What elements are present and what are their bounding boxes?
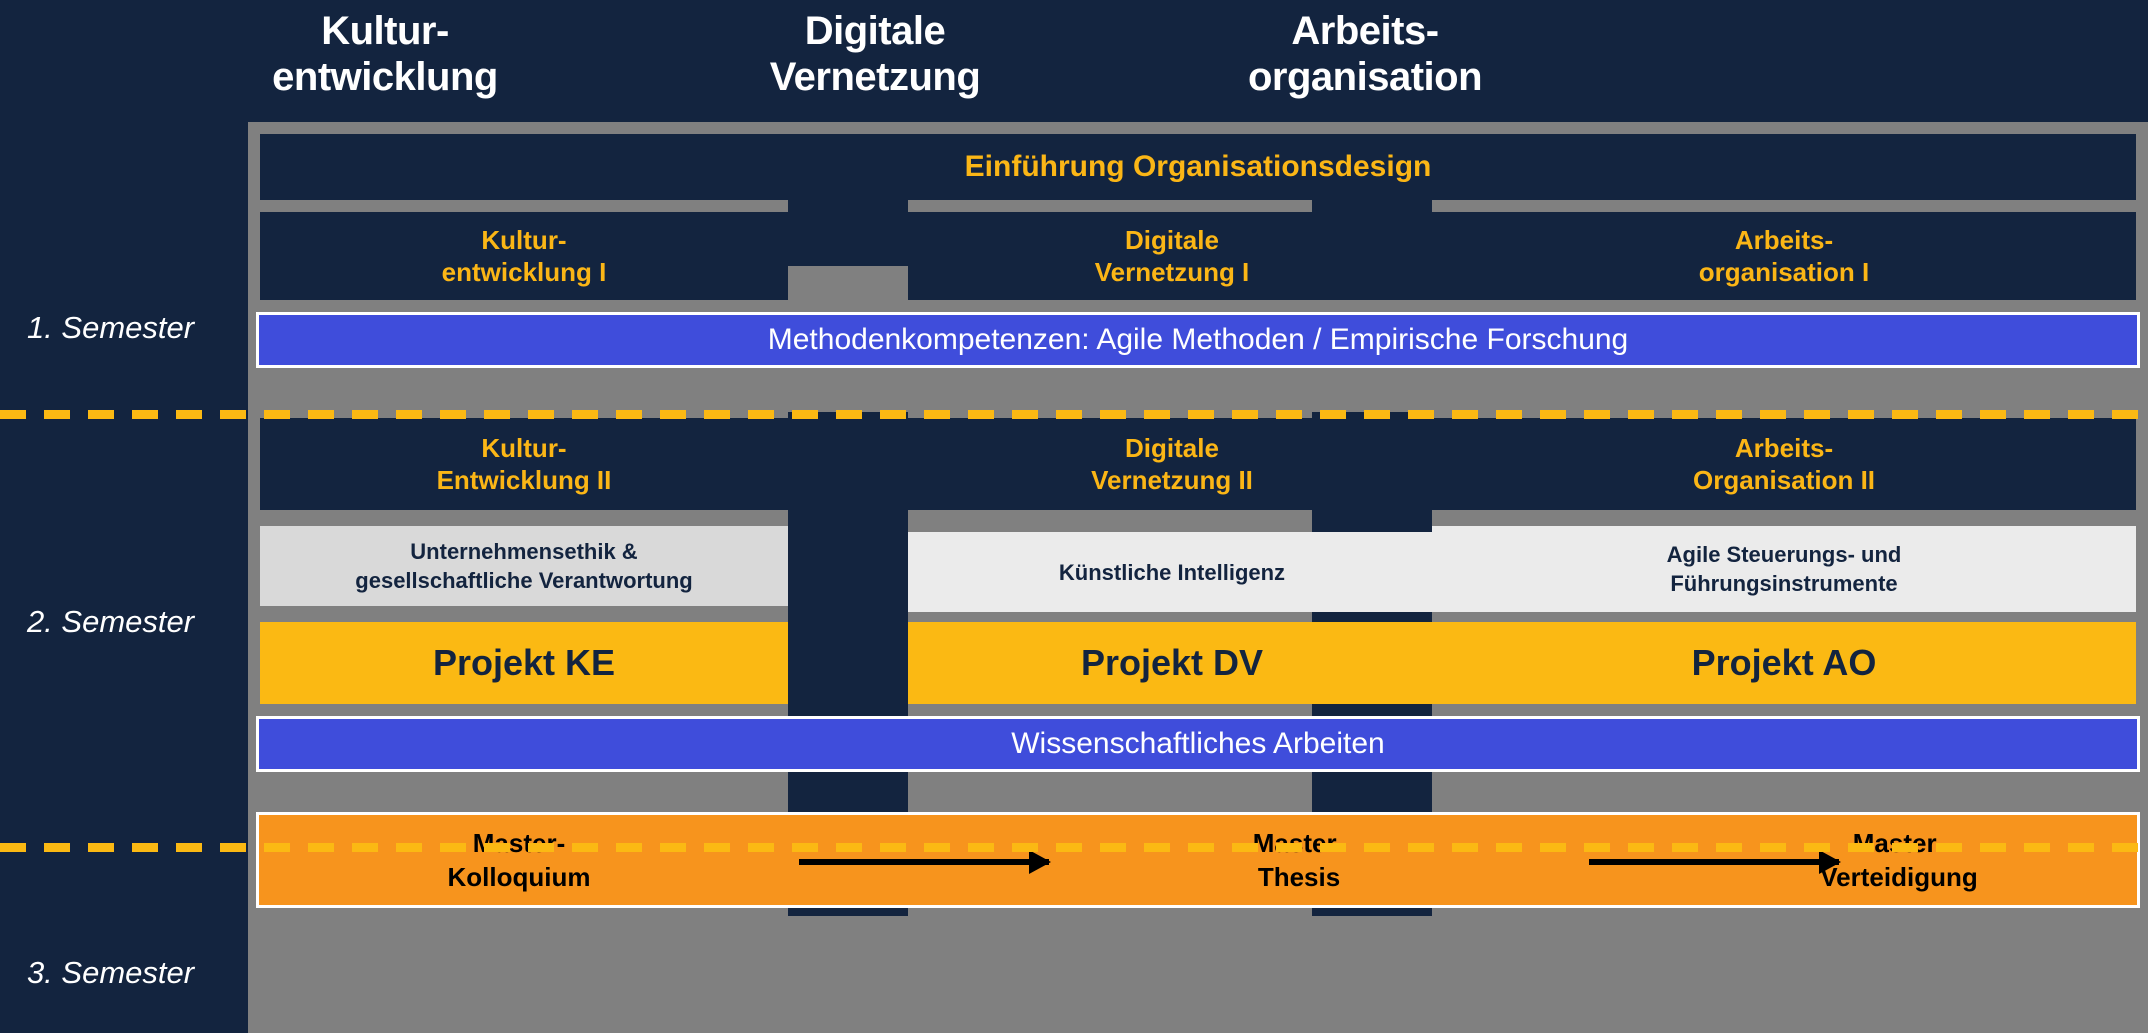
semester-label-2: 2. Semester [0, 604, 233, 640]
master-row[interactable]: Master-Kolloquium Master-Thesis Master-V… [256, 812, 2140, 908]
semester-divider-2 [0, 843, 2148, 852]
elective-kuenstliche-intelligenz[interactable]: Künstliche Intelligenz [908, 532, 1436, 612]
semester-label-3: 3. Semester [0, 955, 233, 991]
bar-wissenschaftliches-arbeiten[interactable]: Wissenschaftliches Arbeiten [256, 716, 2140, 772]
master-kolloquium-label: Master-Kolloquium [309, 826, 729, 894]
project-ke[interactable]: Projekt KE [260, 622, 788, 704]
project-ao[interactable]: Projekt AO [1432, 622, 2136, 704]
module-kulturentwicklung-2[interactable]: Kultur-Entwicklung II [260, 418, 788, 510]
project-dv[interactable]: Projekt DV [908, 622, 1436, 704]
module-arbeitsorganisation-1[interactable]: Arbeits-organisation I [1432, 212, 2136, 300]
column-header-kulturentwicklung: Kultur-entwicklung [170, 8, 600, 100]
column-header-arbeitsorganisation: Arbeits-organisation [1150, 8, 1580, 100]
module-arbeitsorganisation-2[interactable]: Arbeits-Organisation II [1432, 418, 2136, 510]
module-digitale-vernetzung-1[interactable]: DigitaleVernetzung I [908, 212, 1436, 300]
master-verteidigung-label: Master-Verteidigung [1659, 826, 2139, 894]
module-digitale-vernetzung-2[interactable]: DigitaleVernetzung II [908, 418, 1436, 510]
curriculum-frame: Einführung Organisationsdesign Kultur-en… [248, 122, 2148, 1033]
elective-unternehmensethik[interactable]: Unternehmensethik &gesellschaftliche Ver… [260, 526, 788, 606]
module-kulturentwicklung-1[interactable]: Kultur-entwicklung I [260, 212, 788, 300]
organisationsdesign-curriculum-diagram: Kultur-entwicklung DigitaleVernetzung Ar… [0, 0, 2148, 1033]
module-einfuehrung-organisationsdesign[interactable]: Einführung Organisationsdesign [260, 134, 2136, 200]
semester-divider-1 [0, 410, 2148, 419]
semester-label-1: 1. Semester [0, 310, 233, 346]
bar-methodenkompetenzen[interactable]: Methodenkompetenzen: Agile Methoden / Em… [256, 312, 2140, 368]
column-header-digitale-vernetzung: DigitaleVernetzung [660, 8, 1090, 100]
master-thesis-label: Master-Thesis [1089, 826, 1509, 894]
elective-agile-steuerungsinstrumente[interactable]: Agile Steuerungs- undFührungsinstrumente [1432, 526, 2136, 612]
